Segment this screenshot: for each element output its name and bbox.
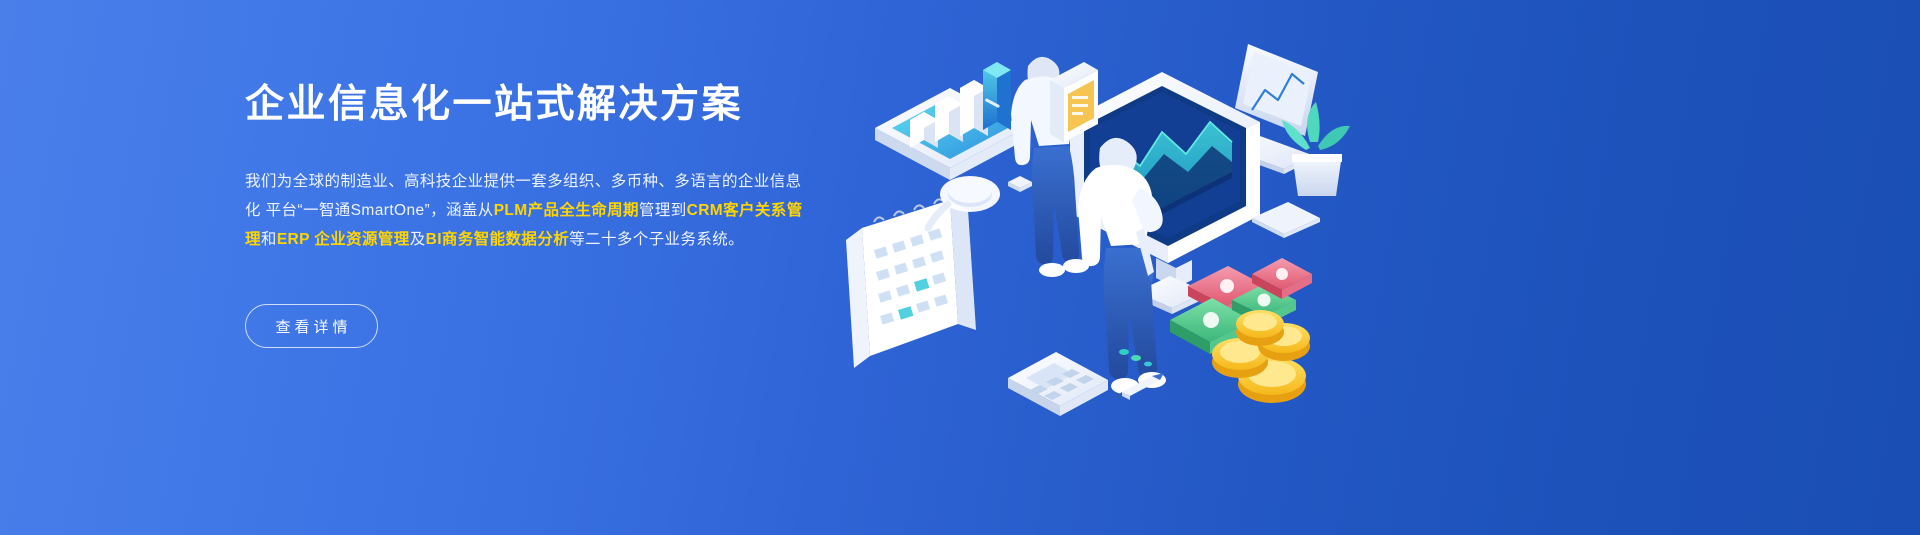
isometric-illustration [840, 0, 1400, 535]
paper-sheet [1252, 202, 1320, 238]
desk-calendar [846, 199, 976, 368]
hero-description: 我们为全球的制造业、高科技企业提供一套多组织、多币种、多语言的企业信息化 平台“… [245, 167, 805, 254]
phone-with-bar-chart [875, 62, 1025, 180]
description-line-2-prefix: 平台“一智通SmartOne”，涵盖从 [266, 202, 494, 219]
hero-banner: 企业信息化一站式解决方案 我们为全球的制造业、高科技企业提供一套多组织、多币种、… [0, 0, 1920, 535]
keyword-bi: BI商务智能数据分析 [426, 231, 570, 248]
hero-copy: 企业信息化一站式解决方案 我们为全球的制造业、高科技企业提供一套多组织、多币种、… [245, 82, 865, 254]
description-line-3-mid: 及 [410, 231, 426, 248]
keyword-erp: ERP 企业资源管理 [277, 231, 410, 248]
description-line-3-prefix: 和 [261, 231, 277, 248]
description-line-2-mid: 管理到 [639, 202, 687, 219]
view-details-button[interactable]: 查看详情 [245, 304, 378, 348]
description-line-3-suffix: 等二十多个子业务系统。 [569, 231, 744, 248]
keyword-plm: PLM产品全生命周期 [494, 202, 639, 219]
calculator [1008, 352, 1108, 416]
page-title: 企业信息化一站式解决方案 [245, 82, 865, 129]
